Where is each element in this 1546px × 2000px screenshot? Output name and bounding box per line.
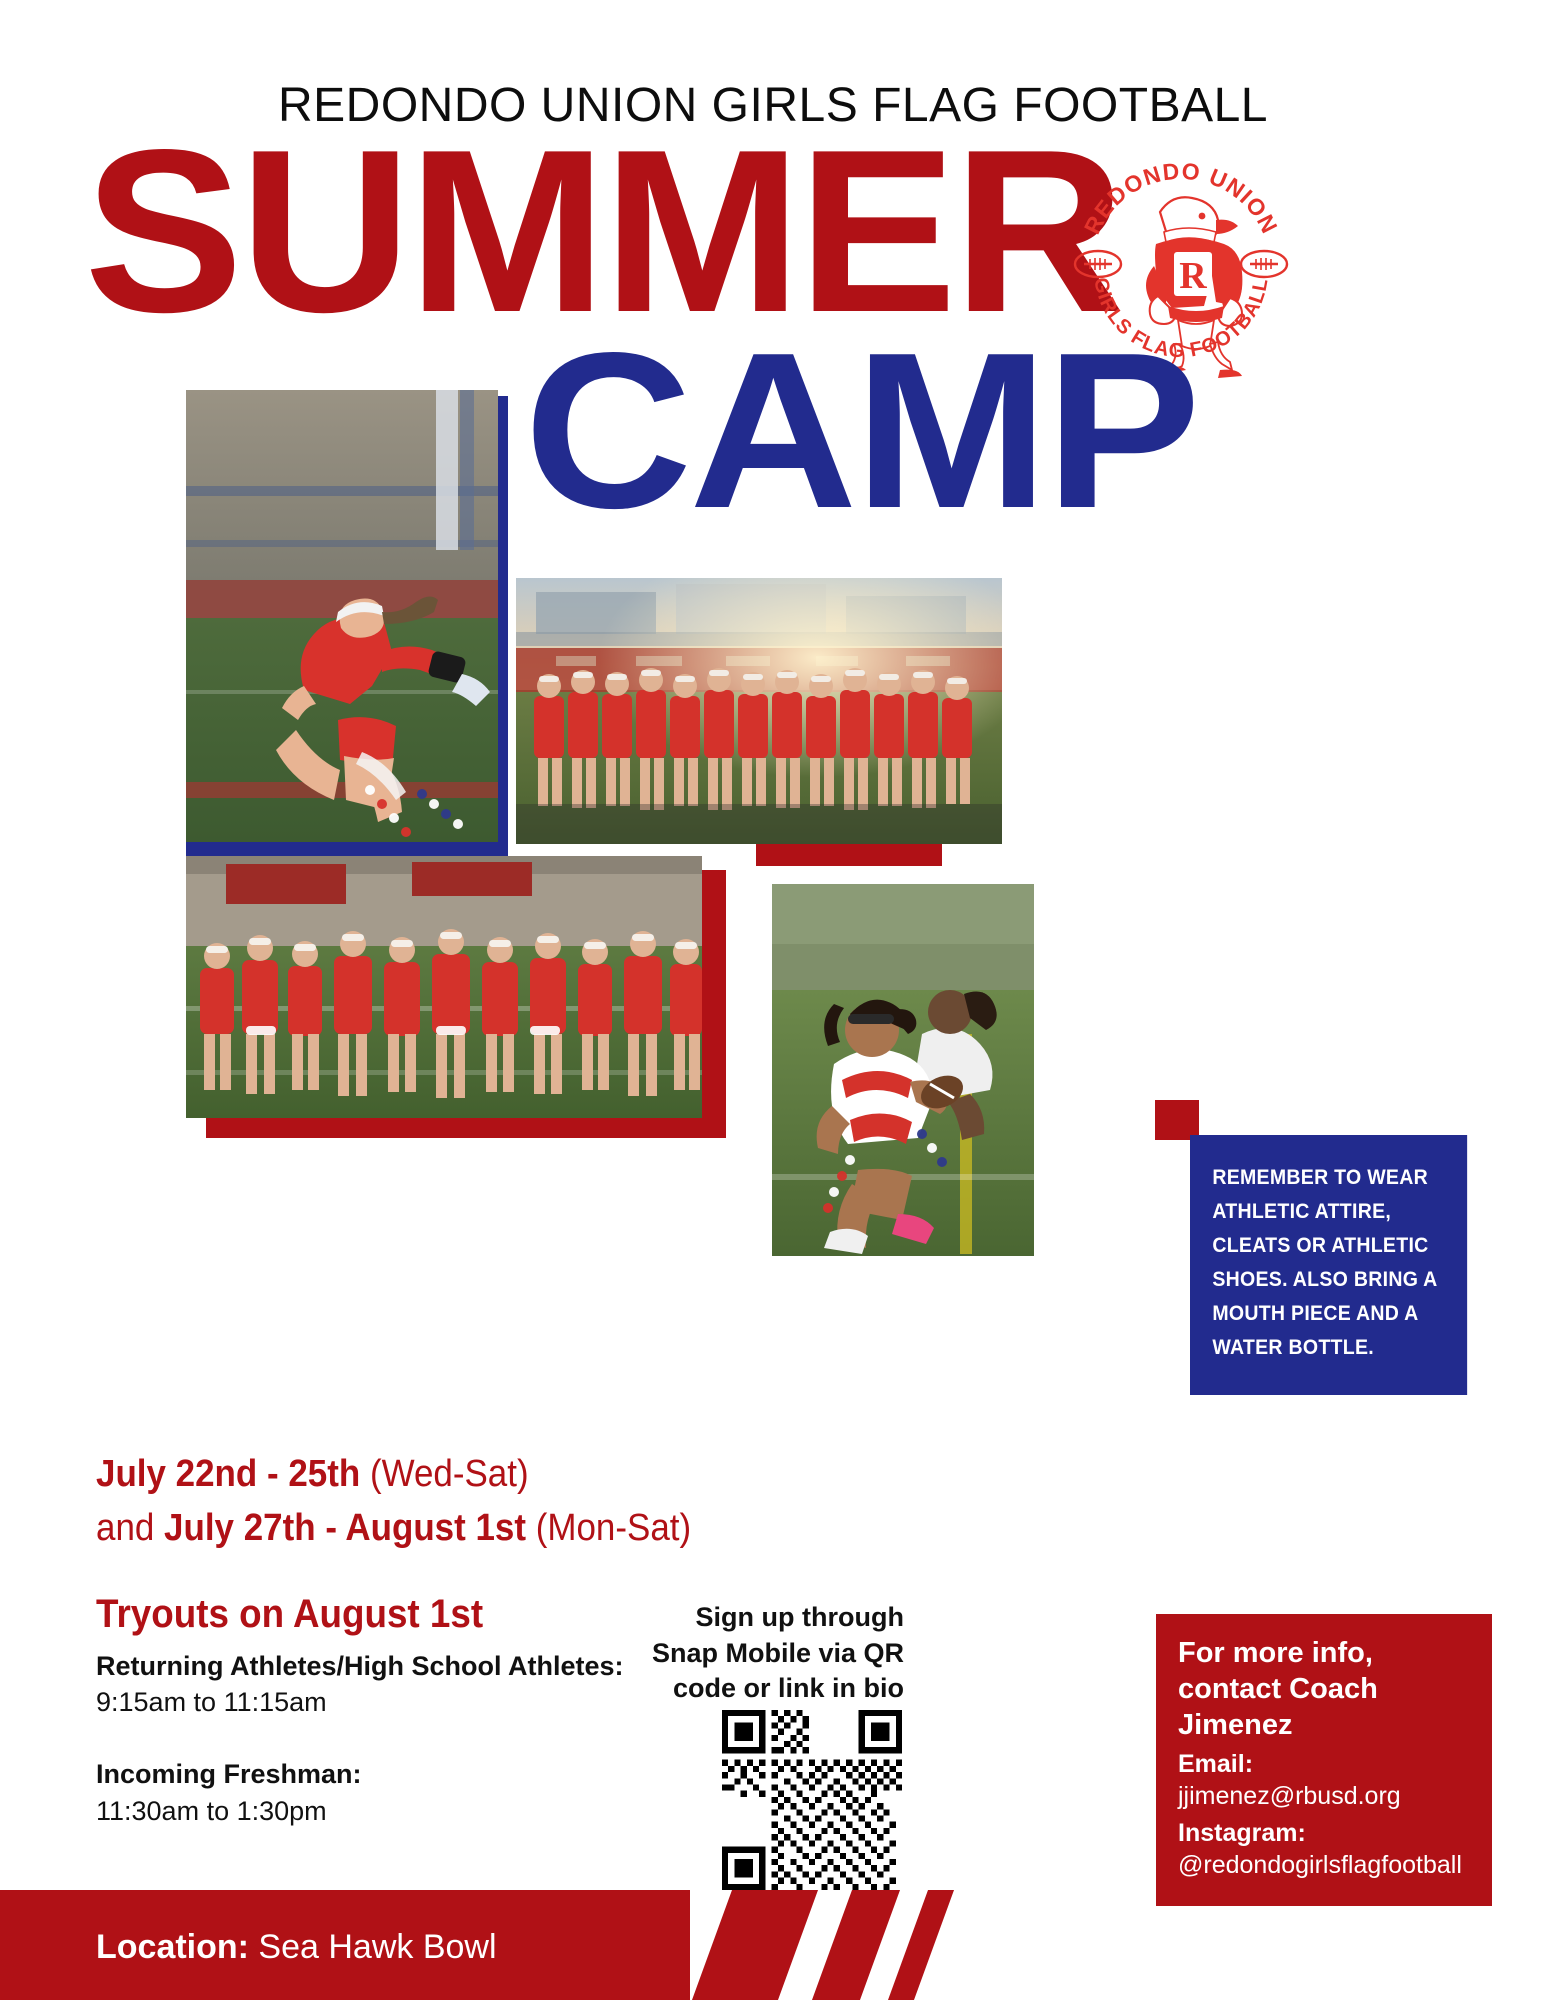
contact-email-label: Email:	[1178, 1748, 1474, 1781]
photo-team-line-accent	[756, 842, 942, 866]
qr-code-icon[interactable]	[722, 1710, 902, 1890]
contact-email-value[interactable]: jjimenez@rbusd.org	[1178, 1780, 1474, 1813]
date-line-1: July 22nd - 25th (Wed-Sat)	[96, 1448, 795, 1502]
svg-text:R: R	[1179, 255, 1207, 297]
contact-instagram-value[interactable]: @redondogirlsflagfootball	[1178, 1849, 1474, 1882]
photo-ball-carrier-image	[772, 884, 1034, 1256]
headline-camp: CAMP	[524, 332, 1198, 532]
photo-celebration	[186, 856, 702, 1118]
reminder-red-accent	[1155, 1100, 1199, 1140]
reminder-box: Remember to wear athletic attire, cleats…	[1190, 1135, 1467, 1395]
contact-instagram-label: Instagram:	[1178, 1817, 1474, 1850]
photo-team-line-image	[516, 578, 1002, 844]
signup-instructions: Sign up through Snap Mobile via QR code …	[628, 1600, 904, 1707]
qr-code[interactable]	[722, 1710, 902, 1890]
photo-ball-carrier	[772, 884, 1034, 1256]
tryouts-heading: Tryouts on August 1st	[96, 1592, 483, 1637]
schedule-spacer	[96, 1720, 756, 1756]
footer-location-label: Location:	[96, 1928, 249, 1966]
footer-stripe-2	[812, 1890, 900, 2000]
contact-heading: For more info, contact Coach Jimenez	[1178, 1636, 1474, 1744]
schedule-time-freshman: 11:30am to 1:30pm	[96, 1793, 756, 1829]
footer-stripe-3	[888, 1890, 954, 2000]
dates-block: July 22nd - 25th (Wed-Sat) and July 27th…	[96, 1448, 856, 1556]
photo-celebration-image	[186, 856, 702, 1118]
photo-runner	[186, 390, 498, 842]
footer-location: Location: Sea Hawk Bowl	[96, 1928, 497, 1967]
date-line-1-bold: July 22nd - 25th	[96, 1453, 360, 1495]
date-line-2-days: (Mon-Sat)	[526, 1507, 691, 1549]
photo-runner-image	[186, 390, 498, 842]
footer-stripe-1	[692, 1890, 818, 2000]
footer-location-value: Sea Hawk Bowl	[249, 1928, 497, 1966]
flyer-root: REDONDO UNION GIRLS FLAG FOOTBALL SUMMER	[0, 0, 1546, 2000]
headline-summer: SUMMER	[84, 128, 1121, 337]
contact-box: For more info, contact Coach Jimenez Ema…	[1156, 1614, 1492, 1906]
photo-team-line	[516, 578, 1002, 844]
date-line-2-prefix: and	[96, 1507, 164, 1549]
schedule-heading-freshman: Incoming Freshman:	[96, 1756, 756, 1792]
date-line-2: and July 27th - August 1st (Mon-Sat)	[96, 1502, 795, 1556]
date-line-1-days: (Wed-Sat)	[360, 1453, 528, 1495]
date-line-2-bold: July 27th - August 1st	[164, 1507, 526, 1549]
